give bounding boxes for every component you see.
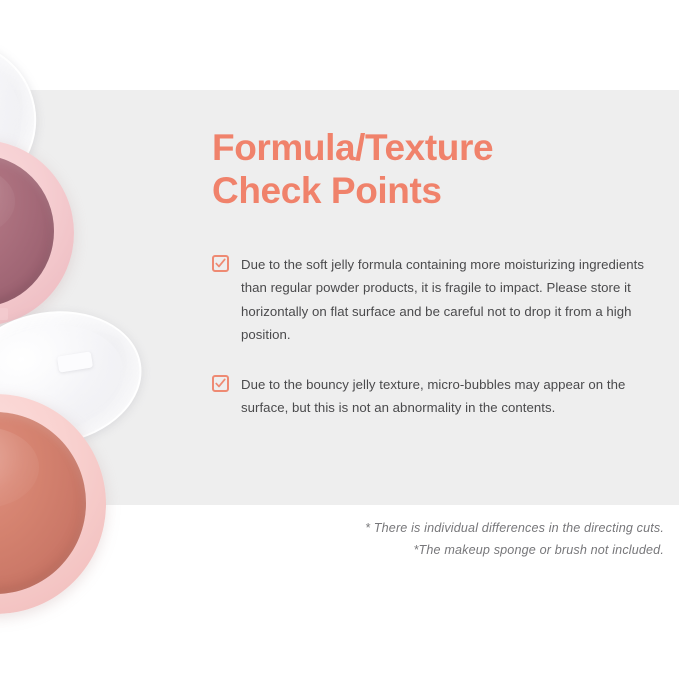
list-item-label: Due to the soft jelly formula containing… [241,253,664,347]
checkbox-checked-icon [212,255,229,272]
content-block: Formula/Texture Check Points Due to the … [212,126,664,420]
footnote-text: *The makeup sponge or brush not included… [212,540,664,562]
footnote-text: * There is individual differences in the… [212,518,664,540]
product-detail-page: Formula/Texture Check Points Due to the … [0,0,679,679]
page-title: Formula/Texture Check Points [212,126,664,213]
list-item: Due to the soft jelly formula containing… [212,253,664,347]
footnotes-block: * There is individual differences in the… [212,518,664,561]
check-points-list: Due to the soft jelly formula containing… [212,253,664,420]
list-item-label: Due to the bouncy jelly texture, micro-b… [241,373,664,420]
list-item: Due to the bouncy jelly texture, micro-b… [212,373,664,420]
checkbox-checked-icon [212,375,229,392]
